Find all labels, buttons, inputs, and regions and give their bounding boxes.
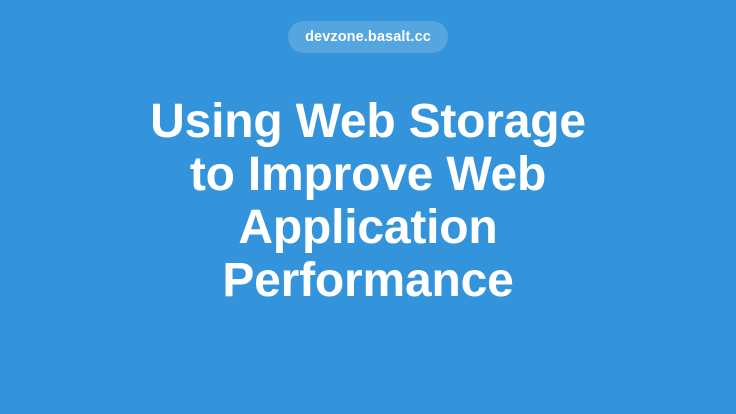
site-domain-badge[interactable]: devzone.basalt.cc: [288, 21, 448, 53]
page-title: Using Web Storage to Improve Web Applica…: [128, 95, 608, 307]
badge-row: devzone.basalt.cc: [0, 21, 736, 53]
headline-wrap: Using Web Storage to Improve Web Applica…: [0, 95, 736, 307]
share-card: devzone.basalt.cc Using Web Storage to I…: [0, 0, 736, 414]
